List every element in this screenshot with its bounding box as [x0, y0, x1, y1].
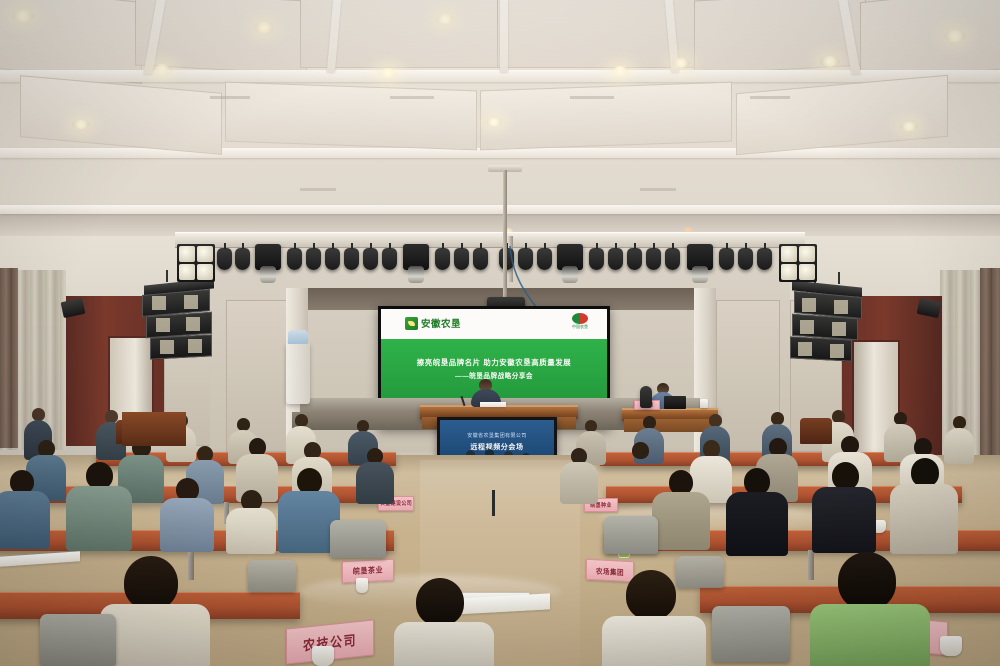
card-row3-mid-label: 皖垦茶业: [353, 564, 383, 577]
attendee: [226, 490, 276, 552]
par-can: [325, 248, 340, 270]
stage-light-group: [175, 240, 815, 302]
monitor-line1: 安徽省农垦集团有限公司: [440, 432, 554, 439]
water-dispenser-top: [288, 330, 308, 344]
attendee: [356, 448, 394, 502]
par-can: [306, 248, 321, 270]
par-can: [738, 248, 753, 270]
screen-emblem: 中国农垦: [563, 313, 597, 339]
attendee-front-center: [394, 578, 494, 666]
par-can: [646, 248, 661, 270]
attendee: [890, 458, 958, 550]
par-can: [217, 248, 232, 270]
water-dispenser: [286, 342, 310, 404]
projector-pole: [503, 170, 507, 298]
attendee: [160, 478, 214, 550]
camera-tripod: [492, 490, 495, 516]
par-can: [589, 248, 604, 270]
operator-cup: [700, 399, 708, 408]
leaf-logo-icon: [405, 317, 418, 330]
par-can: [363, 248, 378, 270]
screen-emblem-caption: 中国农垦: [572, 325, 588, 329]
chair: [330, 520, 386, 558]
emblem-icon: [572, 313, 588, 324]
screen-brand-logo: 安徽农垦: [405, 316, 461, 330]
par-can: [382, 248, 397, 270]
par-can: [627, 248, 642, 270]
par-can: [757, 248, 772, 270]
blinder-light-left: [177, 244, 215, 282]
par-can: [235, 248, 250, 270]
moving-head-light: [557, 244, 583, 270]
card-row3-mid: 皖垦茶业: [342, 559, 394, 584]
chair: [40, 614, 116, 666]
par-can: [608, 248, 623, 270]
stage-chair-right: [800, 418, 832, 444]
attendee: [0, 470, 50, 546]
slide-title: 擦亮皖垦品牌名片 助力安徽农垦高质量发展: [381, 357, 607, 368]
attendee-front-left: [100, 556, 210, 666]
attendee: [66, 462, 132, 548]
par-can: [719, 248, 734, 270]
drink-cup: [356, 578, 368, 593]
par-can: [287, 248, 302, 270]
attendee: [560, 448, 598, 502]
conference-hall-photo: 安徽农垦 中国农垦 擦亮皖垦品牌名片 助力安徽农垦高质量发展 ——皖垦品牌战略分…: [0, 0, 1000, 666]
monitor-line2: 远程视频分会场: [440, 442, 554, 452]
curtain-left-dark: [0, 268, 18, 448]
operator-laptop: [664, 396, 686, 409]
par-can: [665, 248, 680, 270]
curtain-right-dark: [980, 268, 1000, 458]
moving-head-light: [687, 244, 713, 270]
attendee: [944, 416, 974, 462]
par-can: [454, 248, 469, 270]
attendee: [726, 468, 788, 552]
screen-logo-text: 安徽农垦: [421, 316, 461, 330]
moving-head-light: [255, 244, 281, 270]
chair: [604, 516, 658, 554]
par-can: [473, 248, 488, 270]
attendee-front-right: [810, 552, 930, 666]
drink-cup-front: [312, 646, 334, 666]
chair: [676, 556, 724, 588]
moving-head-light: [403, 244, 429, 270]
par-can: [435, 248, 450, 270]
drink-cup-front-right: [940, 636, 962, 656]
operator-chair: [640, 386, 652, 408]
par-can: [344, 248, 359, 270]
attendee: [812, 462, 876, 550]
attendee: [652, 470, 710, 548]
chair: [248, 560, 296, 592]
presenter-papers: [480, 402, 506, 407]
side-cabinet: [122, 412, 186, 446]
blinder-light-right: [779, 244, 817, 282]
chair: [712, 606, 790, 662]
